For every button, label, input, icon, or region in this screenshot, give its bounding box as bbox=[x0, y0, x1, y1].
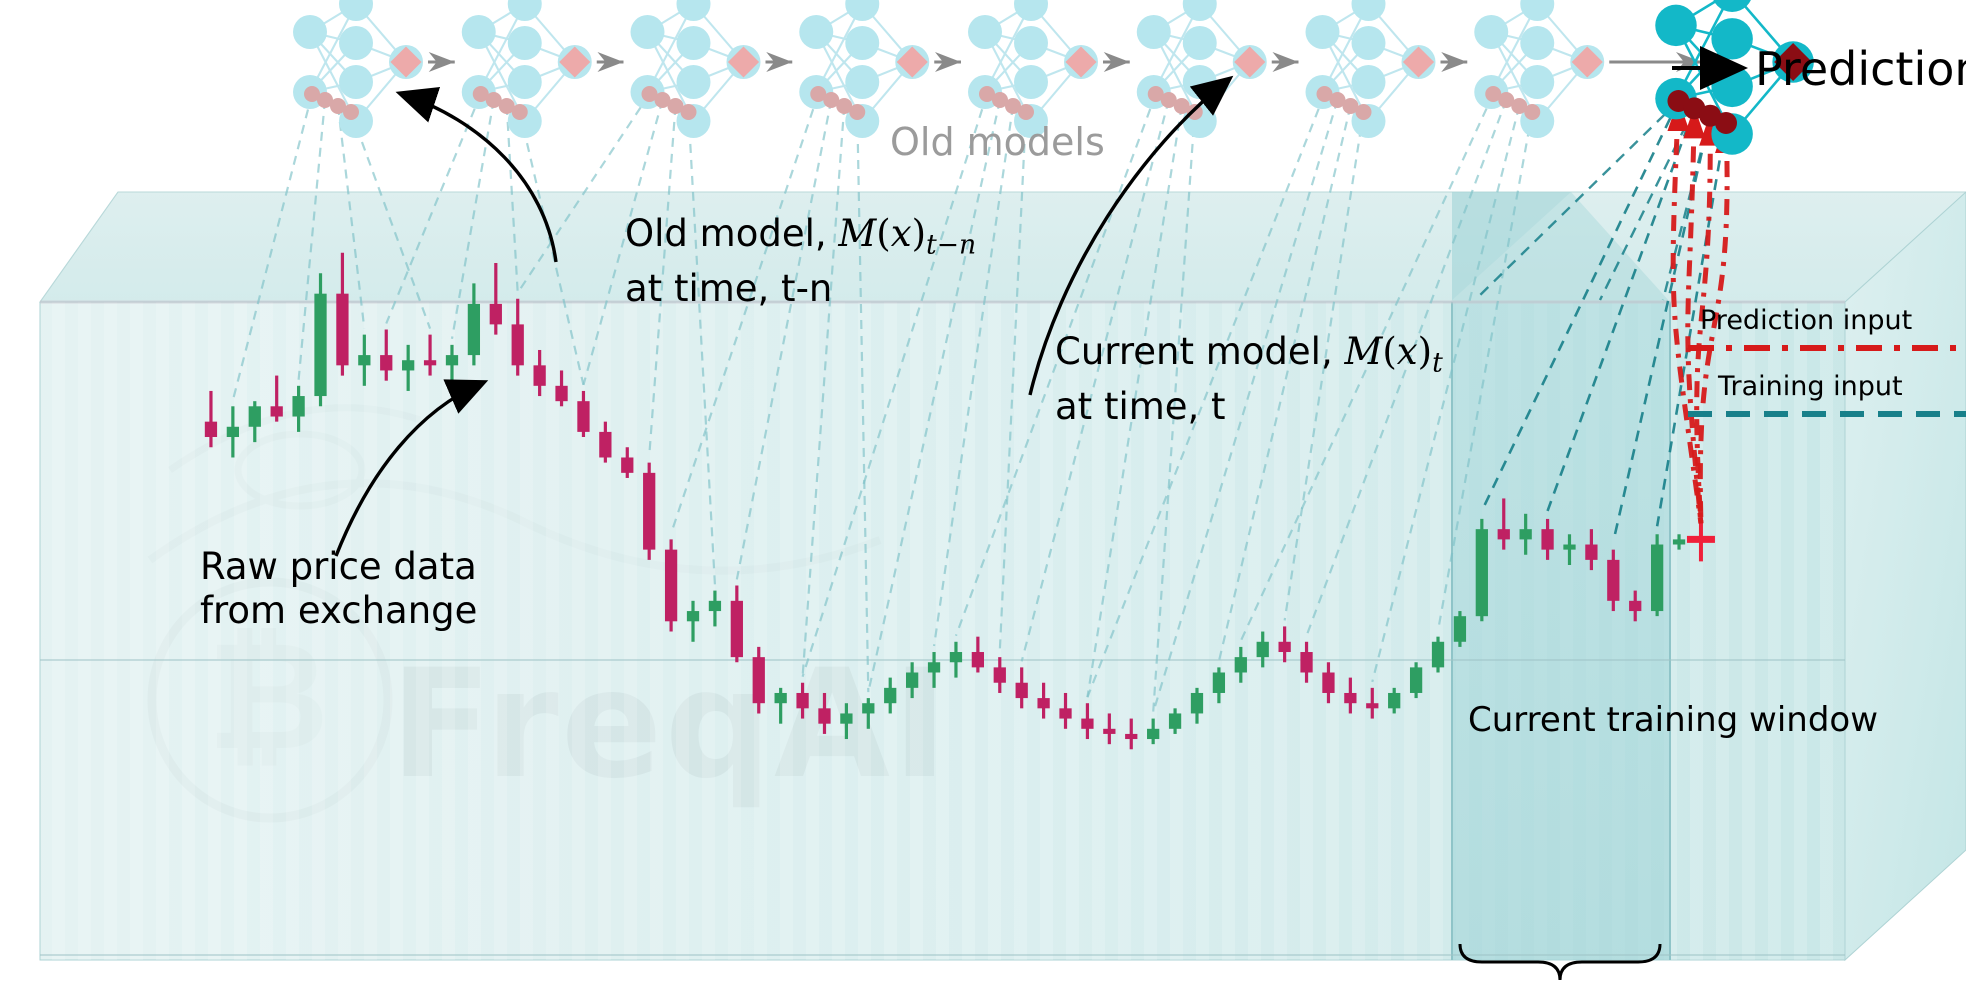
current-training-window-label: Current training window bbox=[1468, 700, 1878, 740]
raw-price-annotation: Raw price data from exchange bbox=[200, 545, 477, 633]
old-model-paren-close: ) bbox=[912, 212, 926, 255]
legend-label-training-input: Training input bbox=[1718, 371, 1903, 402]
raw-price-line2: from exchange bbox=[200, 589, 477, 633]
current-model-paren-close: ) bbox=[1418, 330, 1432, 373]
current-model-prefix: Current model, bbox=[1055, 330, 1344, 373]
old-model-line2: at time, t-n bbox=[625, 267, 976, 311]
legend-label-prediction-input: Prediction input bbox=[1700, 305, 1912, 336]
old-model-paren-open: ( bbox=[876, 212, 890, 255]
old-model-math-x: x bbox=[891, 212, 912, 255]
current-model-math-m: M bbox=[1344, 330, 1382, 373]
figure-root: ₿ FreqAI bbox=[0, 0, 1966, 981]
current-model-paren-open: ( bbox=[1382, 330, 1396, 373]
current-model-subscript: t bbox=[1432, 347, 1443, 378]
current-model-line2: at time, t bbox=[1055, 385, 1443, 429]
current-model-annotation: Current model, M(x)t at time, t bbox=[1055, 330, 1443, 429]
prediction-label: Prediction bbox=[1755, 42, 1966, 96]
raw-price-line1: Raw price data bbox=[200, 545, 477, 589]
old-model-prefix: Old model, bbox=[625, 212, 838, 255]
old-models-label: Old models bbox=[890, 120, 1105, 164]
current-model-math-x: x bbox=[1397, 330, 1418, 373]
old-model-subscript: t−n bbox=[926, 229, 976, 260]
old-model-annotation: Old model, M(x)t−n at time, t-n bbox=[625, 212, 976, 311]
old-model-math-m: M bbox=[838, 212, 876, 255]
